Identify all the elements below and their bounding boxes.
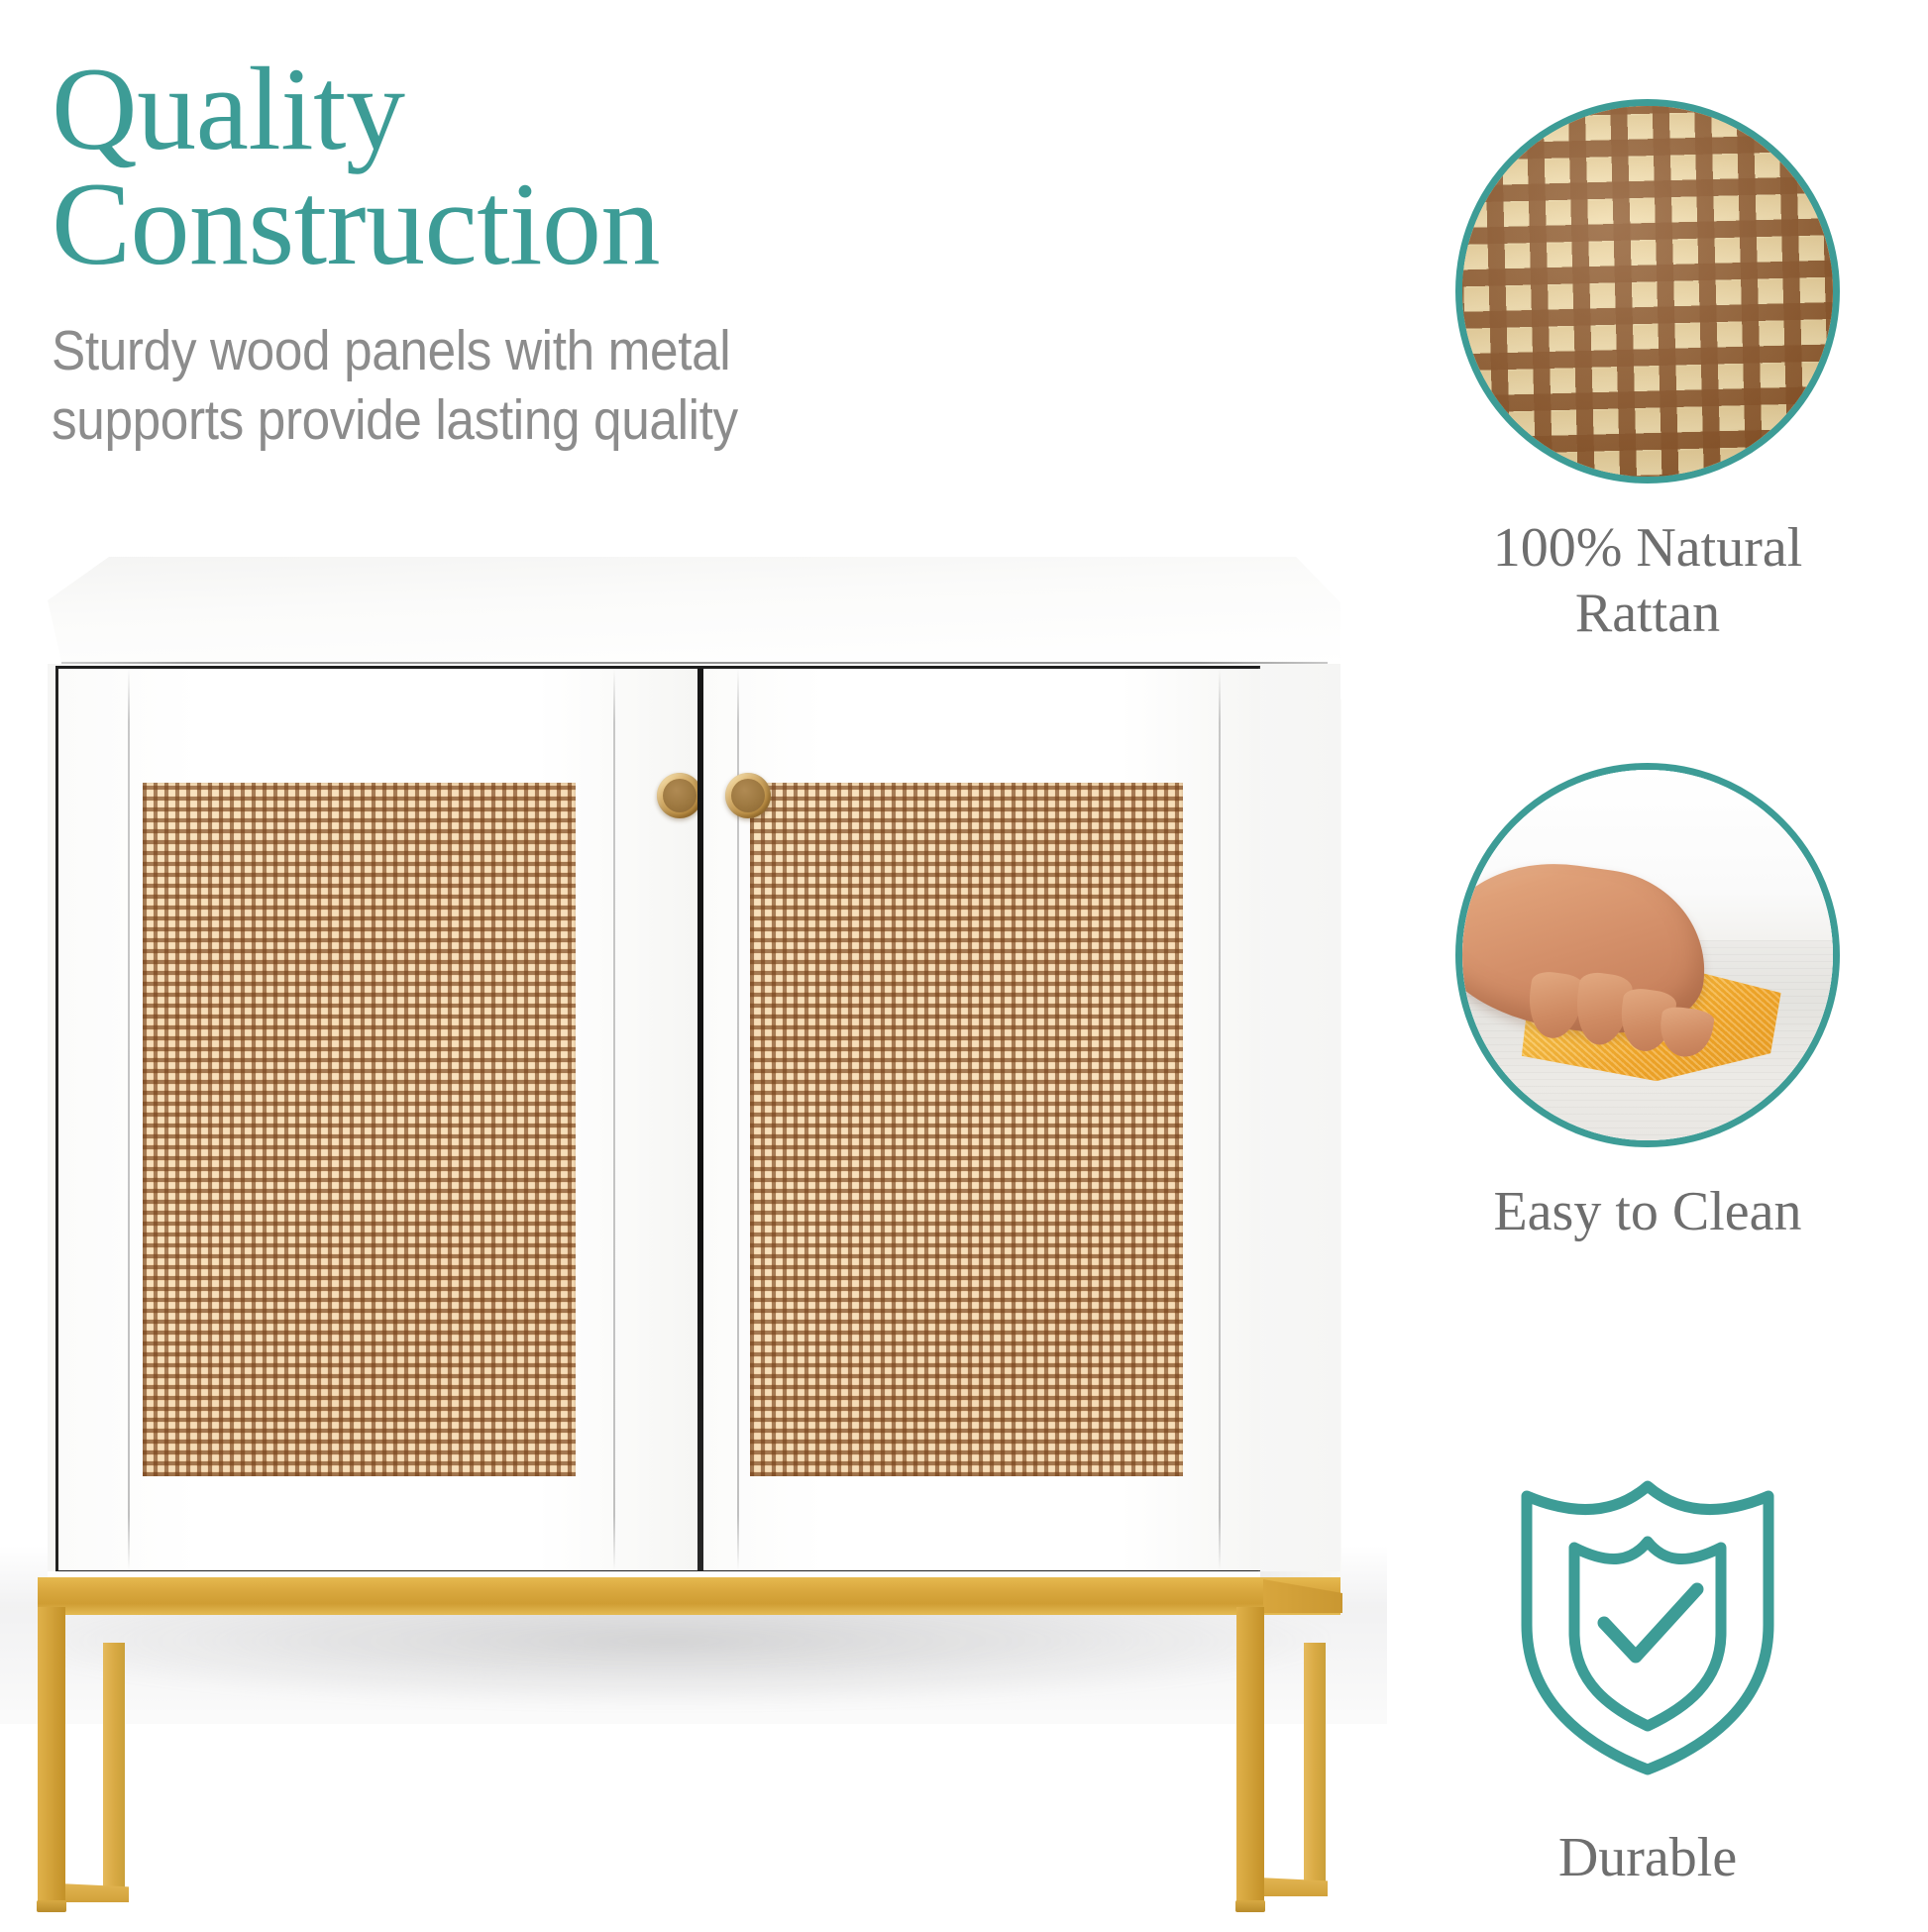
gold-leg-back-left [103,1643,125,1898]
rattan-panel-left [143,783,576,1476]
gold-foot-left [37,1900,66,1912]
cabinet-top-surface [48,555,1340,666]
gold-leg-front-left [38,1607,65,1904]
gold-leg-back-right [1304,1643,1326,1890]
feature-easy-to-clean: Easy to Clean [1367,763,1928,1244]
rattan-panel-right [750,783,1183,1476]
cabinet-top-face [48,555,1340,666]
rattan-weave-texture [1455,99,1840,483]
cleaning-photo [1462,770,1833,1140]
door-left-outer-stile [613,669,615,1570]
product-image-cabinet [0,555,1387,1932]
feature-natural-rattan: 100% Natural Rattan [1367,99,1928,646]
cabinet-knob-right[interactable] [725,773,771,818]
feature-label-durable: Durable [1367,1825,1928,1890]
feature-durable: Durable [1367,1456,1928,1890]
gold-base-rail [38,1577,1340,1615]
cabinet-knob-left[interactable] [657,773,702,818]
cabinet-door-left [58,669,697,1570]
feature-callout-column: 100% Natural Rattan Easy to Clean [1367,0,1928,1928]
shield-check-icon [1455,1456,1840,1793]
feature-label-natural-rattan: 100% Natural Rattan [1367,515,1928,646]
cabinet-door-right [703,669,1260,1570]
page-subtitle: Sturdy wood panels with metal supports p… [52,316,970,455]
door-left-inner-stile [128,669,130,1570]
shield-check-svg [1499,1466,1796,1783]
product-floor-shadow [59,1600,1328,1707]
door-right-outer-stile [1219,669,1221,1570]
gold-foot-right [1235,1900,1265,1912]
page-title: Quality Construction [52,52,1072,282]
gold-leg-front-right [1236,1607,1264,1904]
headline-block: Quality Construction Sturdy wood panels … [52,52,1072,455]
cabinet-door-frame [55,666,1260,1573]
hand-wiping-cloth-photo-icon [1455,763,1840,1147]
rattan-weave-swatch-icon [1455,99,1840,483]
feature-label-easy-to-clean: Easy to Clean [1367,1179,1928,1244]
